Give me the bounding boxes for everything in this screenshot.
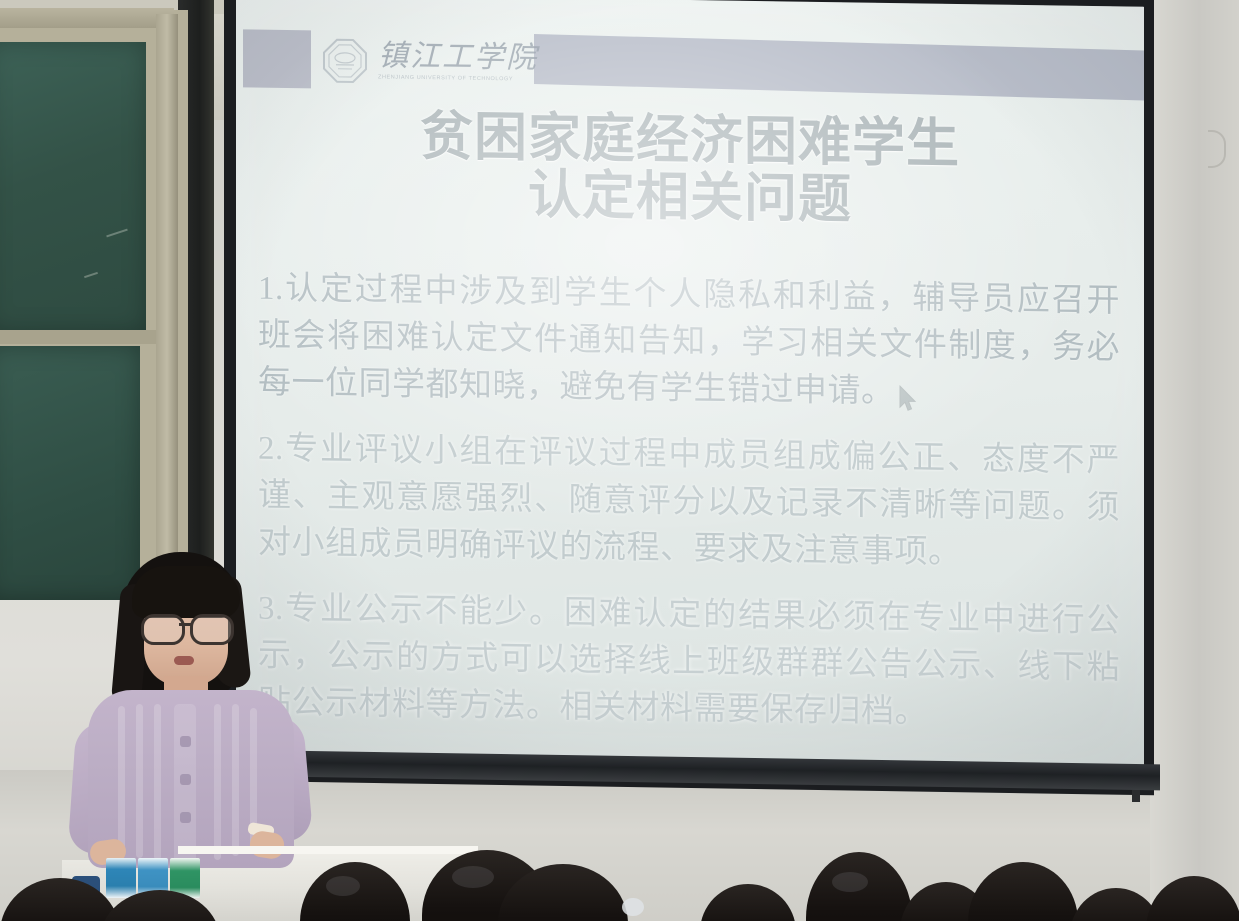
slide-paragraph-2: 2.专业评议小组在评议过程中成员组成偏公正、态度不严谨、主观意愿强烈、随意评分以…: [258, 426, 1120, 580]
audience-hair-clip: [622, 898, 644, 916]
lectern-top-edge: [178, 846, 478, 854]
slide-paragraph-1: 1.认定过程中涉及到学生个人隐私和利益，辅导员应召开班会将困难认定文件通知告知，…: [258, 266, 1120, 420]
chalkboard-chalk-rail: [0, 330, 158, 344]
presenter-mouth: [174, 656, 194, 665]
sweater-placket: [174, 704, 196, 866]
chalkboard-top-rail: [0, 8, 174, 28]
sweater-button: [180, 736, 191, 747]
desk-box-blue: [106, 858, 136, 898]
projection-screen[interactable]: 镇江工学院 ZHENJIANG UNIVERSITY OF TECHNOLOGY…: [236, 0, 1144, 773]
presenter-speaker: [70, 552, 320, 882]
chalkboard-panel-upper: [0, 42, 146, 332]
slide-title-line-1: 贫困家庭经济困难学生: [420, 107, 960, 174]
logo-english-name: ZHENJIANG UNIVERSITY OF TECHNOLOGY: [378, 76, 538, 84]
sweater-button: [180, 812, 191, 823]
presenter-fringe: [132, 566, 240, 618]
chalkboard-side-post: [156, 14, 178, 600]
classroom-right-wall: [1150, 0, 1239, 921]
sweater-button: [180, 774, 191, 785]
slide-accent-block-left: [243, 29, 311, 88]
glasses-lens-right: [190, 614, 234, 645]
university-seal-emblem: [322, 38, 368, 85]
university-logo: 镇江工学院 ZHENJIANG UNIVERSITY OF TECHNOLOGY: [322, 33, 528, 92]
screenshot-canvas: 镇江工学院 ZHENJIANG UNIVERSITY OF TECHNOLOGY…: [0, 0, 1239, 921]
glasses-lens-left: [141, 614, 185, 645]
logo-chinese-name: 镇江工学院: [378, 42, 538, 74]
presenter-glasses: [140, 614, 232, 640]
slide-surface: 镇江工学院 ZHENJIANG UNIVERSITY OF TECHNOLOGY…: [236, 0, 1144, 773]
slide-title: 贫困家庭经济困难学生 认定相关问题: [276, 106, 1104, 233]
screen-foot-right: [1132, 790, 1140, 802]
logo-text: 镇江工学院 ZHENJIANG UNIVERSITY OF TECHNOLOGY: [378, 42, 538, 84]
slide-title-line-2: 认定相关问题: [276, 163, 1104, 233]
slide-accent-bar-right: [534, 34, 1144, 101]
slide-paragraph-3: 3.专业公示不能少。困难认定的结果必须在专业中进行公示，公示的方式可以选择线上班…: [258, 586, 1120, 740]
